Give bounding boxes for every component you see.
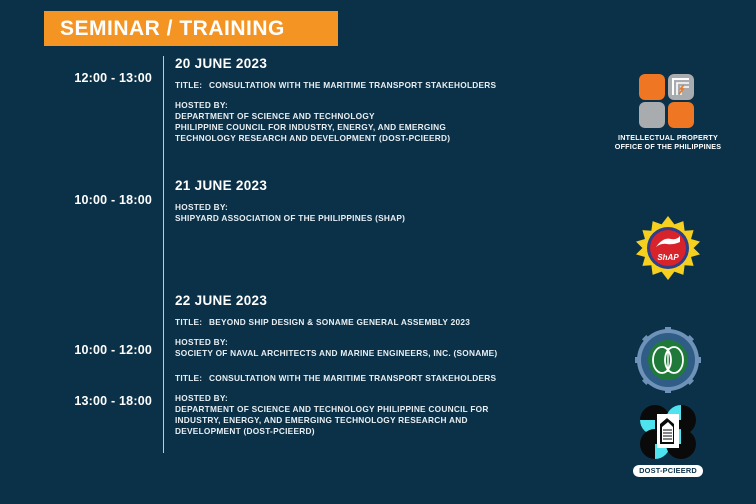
seminar-training-banner: SEMINAR / TRAINING [44,11,338,46]
ipophl-caption-line1: INTELLECTUAL PROPERTY [608,133,728,142]
time-slot: 10:00 - 18:00 [74,193,152,207]
block-date: 21 JUNE 2023 [175,178,756,193]
shap-mark-icon: ShAP [636,216,700,280]
shap-core-text: ShAP [657,253,678,262]
session-title: BEYOND SHIP DESIGN & SONAME GENERAL ASSE… [209,317,470,327]
title-label: TITLE: [175,80,209,91]
ipophl-square-bottom-right [668,102,694,128]
title-label: TITLE: [175,317,209,328]
soname-logo [608,327,728,393]
title-label: TITLE: [175,373,209,384]
dost-circles-icon [637,404,699,460]
ipophl-logo: INTELLECTUAL PROPERTY OFFICE OF THE PHIL… [608,74,728,151]
dost-caption: DOST-PCIEERD [633,465,703,477]
time-column: 10:00 - 18:00 [0,178,152,293]
ipophl-square-bottom-left [639,102,665,128]
ipophl-caption: INTELLECTUAL PROPERTY OFFICE OF THE PHIL… [608,133,728,151]
ipophl-mark-icon [637,74,699,130]
page-title: SEMINAR / TRAINING [60,17,285,41]
time-slot: 10:00 - 12:00 [74,343,152,357]
hosted-by-label: HOSTED BY: [175,202,756,213]
ipophl-caption-line2: OFFICE OF THE PHILIPPINES [608,142,728,151]
hosted-by-label: HOSTED BY: [175,393,756,404]
ipophl-square-top-right [668,74,694,100]
shap-ship-icon [653,233,683,253]
ipophl-square-top-left [639,74,665,100]
block-date: 20 JUNE 2023 [175,56,756,71]
soname-gear-icon [635,327,701,393]
time-slot: 12:00 - 13:00 [74,71,152,85]
dost-mark-icon [637,404,699,460]
time-column: 10:00 - 12:00 13:00 - 18:00 [0,293,152,453]
dost-pcieerd-logo: DOST-PCIEERD [608,404,728,478]
time-column: 12:00 - 13:00 [0,56,152,178]
ipophl-chevron-icon [668,74,694,100]
shap-core: ShAP [650,230,686,266]
session-title: CONSULTATION WITH THE MARITIME TRANSPORT… [209,373,496,383]
shap-logo: ShAP [608,216,728,280]
session-title: CONSULTATION WITH THE MARITIME TRANSPORT… [209,80,496,90]
time-slot: 13:00 - 18:00 [74,394,152,408]
soname-mark-icon [635,327,701,393]
block-date: 22 JUNE 2023 [175,293,756,308]
